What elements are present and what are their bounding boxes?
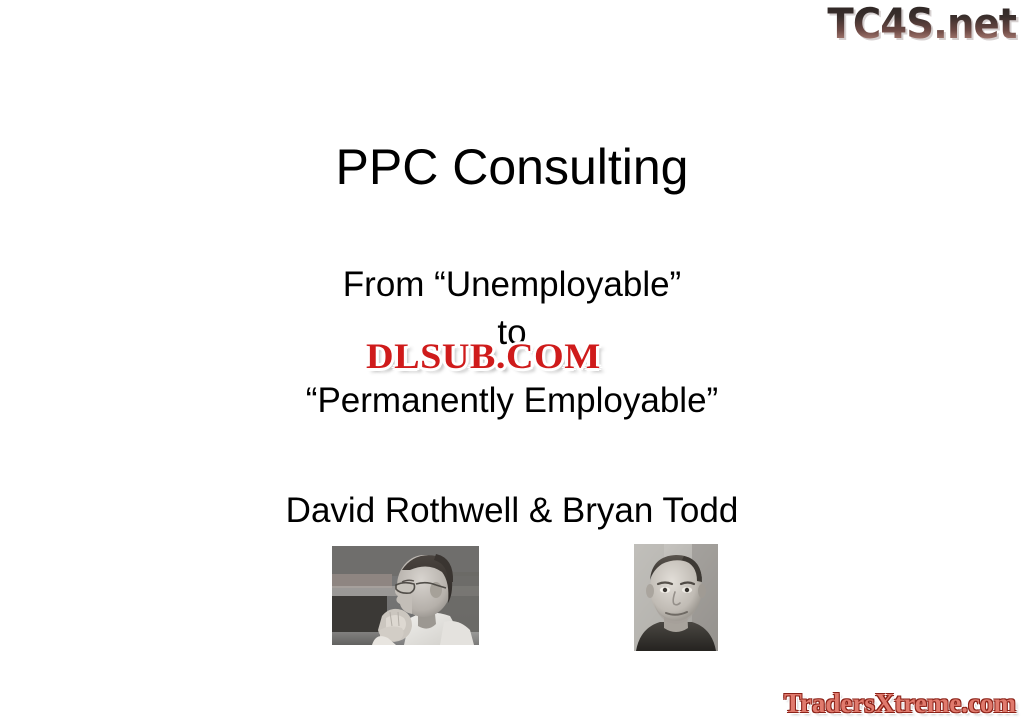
subtitle-line-from: From “Unemployable” <box>0 264 1024 306</box>
watermark-tc4s-net: TC4S.net <box>827 1 1016 47</box>
page-title: PPC Consulting <box>0 138 1024 196</box>
presentation-slide: PPC Consulting From “Unemployable” to “P… <box>0 0 1024 724</box>
watermark-tradersxtreme-com: TradersXtreme.com <box>784 688 1016 718</box>
photo-david-rothwell <box>332 546 479 645</box>
photo-bryan-todd <box>634 544 718 651</box>
photo-david-rothwell-image <box>332 546 479 645</box>
photo-bryan-todd-image <box>634 544 718 651</box>
presenter-names: David Rothwell & Bryan Todd <box>0 490 1024 532</box>
subtitle-line-permanently-employable: “Permanently Employable” <box>0 380 1024 422</box>
watermark-dlsub-com: DLSUB.COM <box>366 336 601 376</box>
